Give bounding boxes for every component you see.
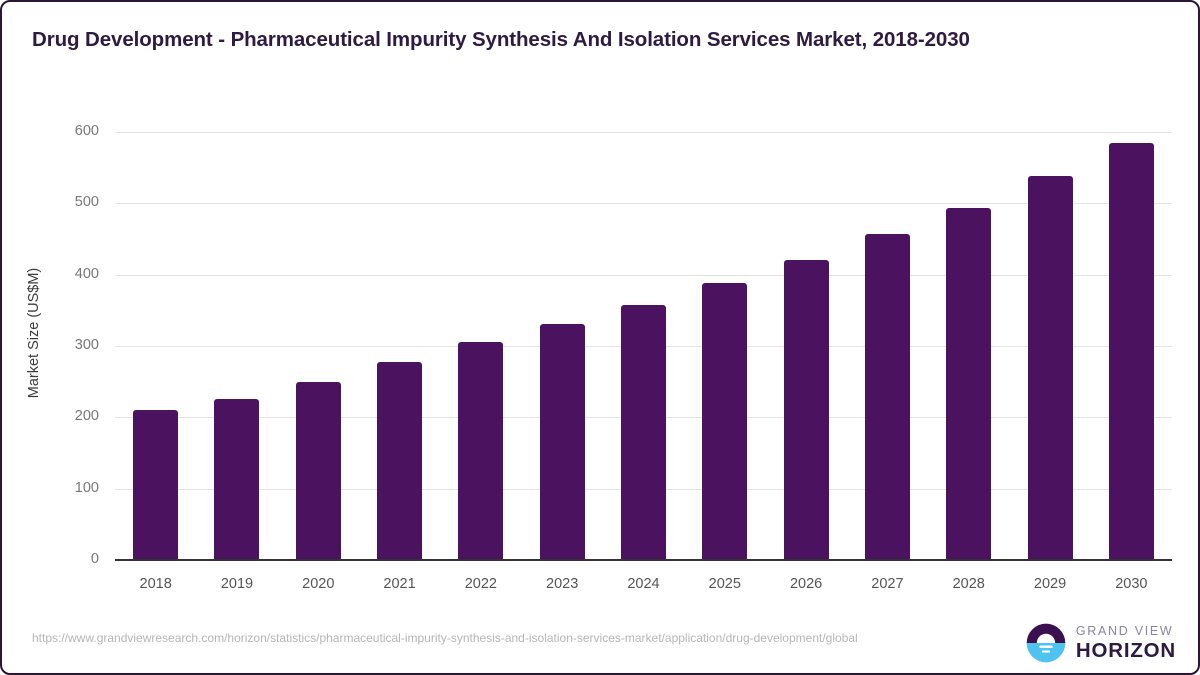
page-title: Drug Development - Pharmaceutical Impuri… [32,26,1172,54]
gridline [115,132,1172,133]
gridline [115,203,1172,204]
y-axis-title: Market Size (US$M) [26,133,42,533]
x-axis-tick-label: 2019 [198,576,276,592]
y-axis-tick-label: 200 [0,408,99,424]
horizon-sunrise-circle-icon [1025,622,1067,664]
brand-name-top: GRAND VIEW [1076,625,1176,638]
bar-2019[interactable] [214,399,259,560]
brand-wordmark: GRAND VIEW HORIZON [1076,625,1176,662]
bar-2028[interactable] [946,208,991,560]
bar-2021[interactable] [377,362,422,560]
bar-2023[interactable] [540,324,585,560]
bar-2026[interactable] [784,260,829,560]
source-url: https://www.grandviewresearch.com/horizo… [32,630,932,647]
x-axis-tick-label: 2026 [767,576,845,592]
y-axis-tick-label: 400 [0,266,99,282]
x-axis-tick-label: 2023 [523,576,601,592]
x-axis-tick-label: 2021 [361,576,439,592]
x-axis-tick-label: 2018 [117,576,195,592]
bar-2029[interactable] [1028,176,1073,560]
brand-logo: GRAND VIEW HORIZON [1025,622,1176,664]
bar-2024[interactable] [621,305,666,560]
brand-name-bottom: HORIZON [1076,641,1176,662]
y-axis-tick-label: 300 [0,337,99,353]
bar-2030[interactable] [1109,143,1154,560]
x-axis-tick-label: 2029 [1011,576,1089,592]
x-axis-tick-label: 2030 [1092,576,1170,592]
bar-2020[interactable] [296,382,341,560]
x-axis-tick-label: 2020 [279,576,357,592]
x-axis-tick-label: 2022 [442,576,520,592]
bar-2027[interactable] [865,234,910,560]
y-axis-tick-label: 600 [0,123,99,139]
x-axis-tick-label: 2028 [930,576,1008,592]
plot-area: 0100200300400500600 20182019202020212022… [115,132,1172,560]
bar-2018[interactable] [133,410,178,560]
y-axis-tick-label: 0 [0,551,99,567]
gridline [115,275,1172,276]
bar-2025[interactable] [702,283,747,560]
chart-figure: Drug Development - Pharmaceutical Impuri… [0,0,1200,675]
bar-2022[interactable] [458,342,503,560]
x-axis-tick-label: 2025 [686,576,764,592]
x-axis-line [115,559,1172,561]
y-axis-tick-label: 100 [0,480,99,496]
x-axis-tick-label: 2024 [605,576,683,592]
x-axis-tick-label: 2027 [848,576,926,592]
bar-chart: Market Size (US$M) 0100200300400500600 2… [2,110,1200,610]
y-axis-tick-label: 500 [0,194,99,210]
